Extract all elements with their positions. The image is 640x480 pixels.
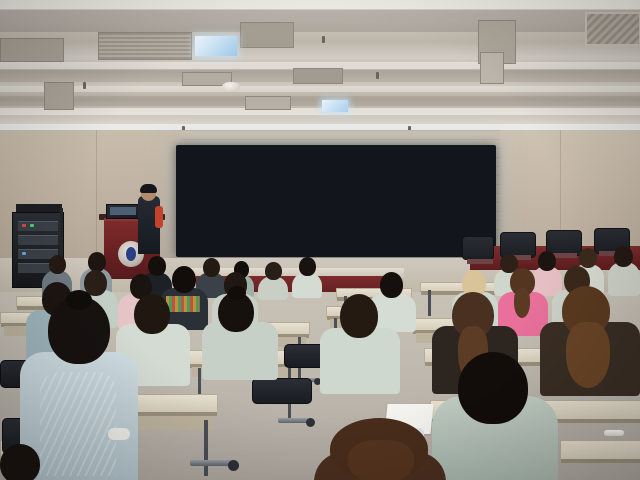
- person-hair-bun: [228, 286, 246, 300]
- person-head: [134, 294, 170, 334]
- ceiling-shadow-band: [0, 96, 640, 106]
- shoe: [108, 428, 130, 440]
- shirt-texture: [40, 372, 116, 476]
- person-head: [203, 258, 220, 277]
- ceiling-panel: [245, 96, 291, 110]
- presentation-screen: 防骗 FANGZHAPIAN 校园常见的电信骗类型: [176, 145, 496, 257]
- desk-leg: [204, 420, 208, 476]
- speaker-arm: [155, 206, 163, 228]
- ac-vent-icon: [98, 32, 192, 60]
- ceiling: [0, 0, 640, 138]
- ceiling-beam: [0, 0, 640, 9]
- person-ponytail: [514, 288, 530, 318]
- sprinkler-icon: [376, 72, 379, 79]
- ceiling-panel: [480, 52, 504, 84]
- person-head: [88, 252, 106, 272]
- person-head: [614, 246, 633, 267]
- desk-castor: [306, 418, 315, 427]
- ceiling-panel: [0, 38, 64, 62]
- speaker-hair: [140, 184, 157, 193]
- marker-pen: [604, 430, 624, 436]
- person-head: [579, 248, 597, 268]
- ceiling-shadow-band: [0, 10, 640, 32]
- chair-back: [252, 378, 312, 404]
- ceiling-light-icon: [195, 36, 237, 56]
- person-head: [49, 255, 66, 274]
- person-head: [0, 444, 40, 480]
- person-hair-bun: [66, 290, 92, 310]
- ceiling-panel: [44, 82, 74, 110]
- person-head: [538, 251, 556, 271]
- ceiling-beam: [0, 108, 640, 115]
- av-module: [18, 235, 58, 245]
- sprinkler-icon: [322, 36, 325, 43]
- desk: [560, 440, 640, 460]
- status-led-icon: [22, 252, 26, 255]
- lecture-hall-photo: 防骗 FANGZHAPIAN 校园常见的电信骗类型: [0, 0, 640, 480]
- desk: [420, 282, 502, 292]
- ceiling-beam: [0, 86, 640, 92]
- person-head: [458, 352, 528, 424]
- tshirt-graphic: [166, 296, 200, 312]
- status-led-icon: [30, 224, 34, 227]
- person-torso: [608, 262, 640, 296]
- back-chair: [462, 236, 494, 260]
- smoke-detector-icon: [222, 82, 240, 92]
- sprinkler-icon: [83, 82, 86, 89]
- person-head: [299, 257, 316, 276]
- person-head: [380, 272, 403, 298]
- person-head: [340, 294, 378, 338]
- ceiling-panel: [293, 68, 343, 84]
- person-head: [265, 262, 282, 280]
- ceiling-panel: [240, 22, 294, 48]
- podium-laptop-icon: [106, 204, 140, 219]
- desk-leg: [428, 290, 431, 316]
- person-ponytail: [348, 440, 414, 480]
- person-head: [148, 256, 166, 276]
- person-ponytail: [566, 322, 610, 388]
- ceiling-light-icon: [322, 100, 348, 112]
- desk-edge: [561, 459, 640, 463]
- wall-seam: [96, 130, 97, 258]
- desk-castor: [228, 460, 239, 471]
- person-head: [172, 266, 196, 293]
- ac-vent-icon: [585, 12, 640, 46]
- status-led-icon: [22, 224, 26, 227]
